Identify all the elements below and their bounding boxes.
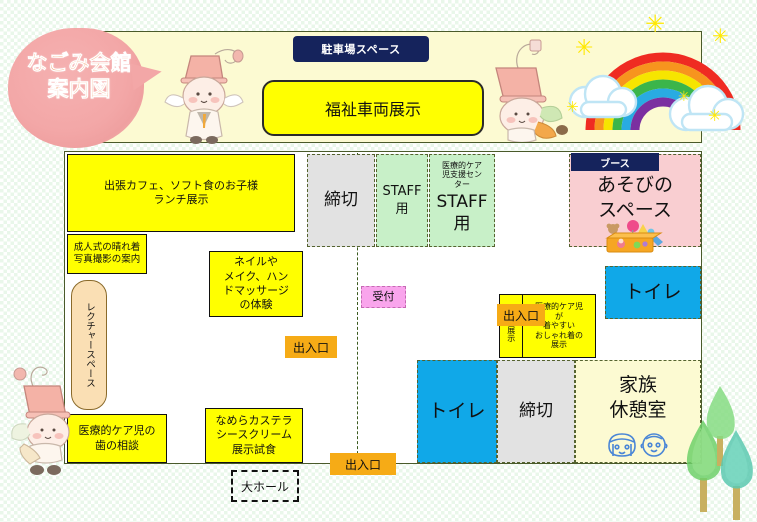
room-closed-top: 締切 (307, 154, 375, 247)
welfare-vehicle-display-box: 福祉車両展示 (262, 80, 484, 136)
exit-marker-top-right: 出入口 (497, 304, 545, 326)
room-staff-1: STAFF 用 (376, 154, 428, 247)
room-staff-2-label-2: 用 (454, 213, 471, 235)
room-staff-2-sub-label-2: 児支援セン (442, 170, 482, 179)
room-coming-of-age[interactable]: 成人式の晴れ着 写真撮影の案内 (67, 234, 147, 274)
room-family-label-2: 休憩室 (609, 398, 666, 423)
room-lecture-space[interactable]: レクチャースペース (71, 280, 107, 410)
room-wear-label-5: 展示 (551, 340, 567, 349)
map-stage: 駐車場スペース 福祉車両展示 (0, 0, 757, 522)
title-line-1: なごみ会館 (14, 50, 144, 76)
room-nail-label-3: ドマッサージ (223, 284, 289, 298)
room-staff-2-sub-label-3: ター (454, 180, 470, 189)
exit-top-right-label: 出入口 (503, 307, 539, 324)
room-toilet-upper: トイレ (605, 266, 701, 319)
exit-marker-bottom: 出入口 (330, 453, 396, 475)
room-toilet-lower: トイレ (417, 360, 497, 463)
room-closed-top-label: 締切 (324, 189, 358, 211)
title-line-2: 案内図 (14, 76, 144, 102)
room-castella[interactable]: なめらカステラ シースクリーム 展示試食 (205, 408, 303, 463)
room-wear-label-3: 着やすい (543, 321, 575, 330)
sparkle-icon: ✳ (575, 38, 593, 60)
sparkle-icon: ✳ (566, 100, 579, 115)
room-nail-makeup[interactable]: ネイルや メイク、ハン ドマッサージ の体験 (209, 251, 303, 317)
room-cafe-label-2: ランチ展示 (154, 193, 209, 207)
toybox-icon (599, 220, 671, 254)
sparkle-icon: ✳ (708, 108, 721, 124)
room-lecture-label: レクチャースペース (83, 302, 95, 388)
room-play-label-2: スペース (598, 198, 672, 223)
main-hall-marker: 大ホール (231, 470, 299, 502)
room-family-label-1: 家族 (619, 373, 657, 398)
room-castella-label-3: 展示試食 (232, 443, 276, 457)
room-closed-bottom-label: 締切 (519, 400, 553, 422)
reception-marker[interactable]: 受付 (361, 286, 406, 308)
room-cafe-label-1: 出張カフェ、ソフト食のお子様 (104, 179, 258, 193)
sparkle-icon: ✳ (712, 26, 729, 46)
exit-bottom-label: 出入口 (345, 456, 381, 473)
room-cafe[interactable]: 出張カフェ、ソフト食のお子様 ランチ展示 (67, 154, 295, 232)
exit-marker-middle: 出入口 (285, 336, 337, 358)
exit-middle-label: 出入口 (293, 339, 329, 356)
room-nail-label-2: メイク、ハン (224, 270, 289, 284)
reception-label: 受付 (373, 290, 395, 304)
room-nail-label-1: ネイルや (234, 255, 278, 269)
room-dental-label-1: 医療的ケア児の (79, 424, 156, 438)
sparkle-icon: ✳ (678, 90, 690, 104)
room-dental-consult[interactable]: 医療的ケア児の 歯の相談 (67, 414, 167, 463)
page-title: なごみ会館 案内図 (14, 50, 144, 103)
room-staff-1-label-1: STAFF (382, 183, 421, 201)
room-staff-1-label-2: 用 (395, 201, 408, 219)
room-castella-label-2: シースクリーム (216, 428, 292, 442)
room-dental-label-2: 歯の相談 (95, 439, 139, 453)
room-castella-label-1: なめらカステラ (216, 414, 293, 428)
room-staff-2-label-1: STAFF (436, 191, 487, 213)
room-coming-label-2: 写真撮影の案内 (74, 254, 141, 266)
room-play-label-1: あそびの (597, 173, 673, 198)
room-coming-label-1: 成人式の晴れ着 (74, 242, 141, 254)
room-nail-label-4: の体験 (240, 298, 273, 312)
room-closed-bottom: 締切 (497, 360, 575, 463)
booth-banner: ブース (571, 153, 659, 171)
room-toilet-lower-label: トイレ (428, 399, 485, 424)
sparkle-icon: ✳ (645, 12, 665, 36)
floor-plan: 出張カフェ、ソフト食のお子様 ランチ展示 成人式の晴れ着 写真撮影の案内 レクチ… (64, 151, 702, 464)
room-staff-2: 医療的ケア 児支援セン ター STAFF 用 (429, 154, 495, 247)
room-wear-label-4: おしゃれ着の (535, 331, 583, 340)
family-faces-icon (601, 430, 675, 462)
tree-icon (714, 428, 757, 522)
parking-space-banner: 駐車場スペース (293, 36, 429, 62)
room-toilet-upper-label: トイレ (624, 280, 681, 305)
room-wear-label-2: が (555, 312, 563, 321)
